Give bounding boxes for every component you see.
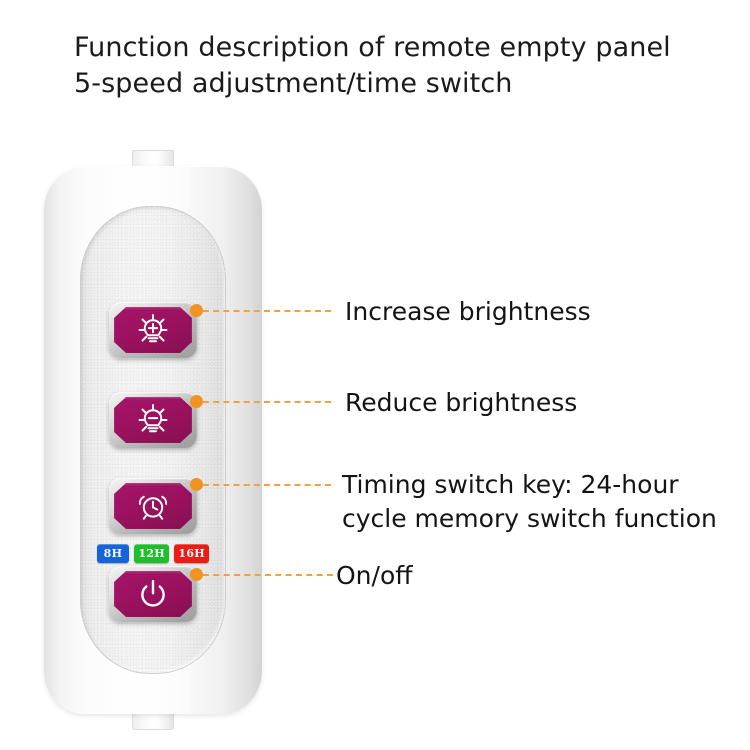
bulb-minus-icon <box>114 397 192 443</box>
callout-label-timing-switch: Timing switch key: 24-hour cycle memory … <box>342 468 750 536</box>
power-icon <box>114 571 192 617</box>
reduce-brightness-button[interactable] <box>109 392 197 448</box>
callout-line-increase-brightness <box>203 310 331 312</box>
timing-switch-button[interactable] <box>109 478 197 534</box>
callout-label-power: On/off <box>336 559 412 593</box>
callout-dot-reduce-brightness <box>190 395 203 408</box>
timer-badge-group: 8H 12H 16H <box>97 544 209 563</box>
page-title-line-2: 5-speed adjustment/time switch <box>74 66 714 102</box>
remote-body: 8H 12H 16H <box>44 166 262 714</box>
page-title: Function description of remote empty pan… <box>74 30 714 102</box>
callout-label-reduce-brightness: Reduce brightness <box>345 386 577 420</box>
callout-label-increase-brightness: Increase brightness <box>345 295 591 329</box>
callout-dot-power <box>190 568 203 581</box>
remote-control: 8H 12H 16H <box>44 150 262 730</box>
page-title-line-1: Function description of remote empty pan… <box>74 30 714 66</box>
power-button[interactable] <box>109 566 197 622</box>
callout-dot-increase-brightness <box>190 304 203 317</box>
timer-badge-8h: 8H <box>97 544 129 563</box>
callout-label-timing-switch-line-1: Timing switch key: 24-hour <box>342 470 679 499</box>
callout-dot-timing-switch <box>190 478 203 491</box>
timer-badge-12h: 12H <box>134 544 169 563</box>
callout-label-timing-switch-line-2: cycle memory switch function <box>342 504 717 533</box>
callout-line-reduce-brightness <box>203 401 331 403</box>
increase-brightness-button[interactable] <box>109 302 197 358</box>
alarm-clock-icon <box>114 483 192 529</box>
callout-line-power <box>203 574 333 576</box>
bulb-plus-icon <box>114 307 192 353</box>
callout-line-timing-switch <box>203 484 331 486</box>
timer-badge-16h: 16H <box>174 544 209 563</box>
